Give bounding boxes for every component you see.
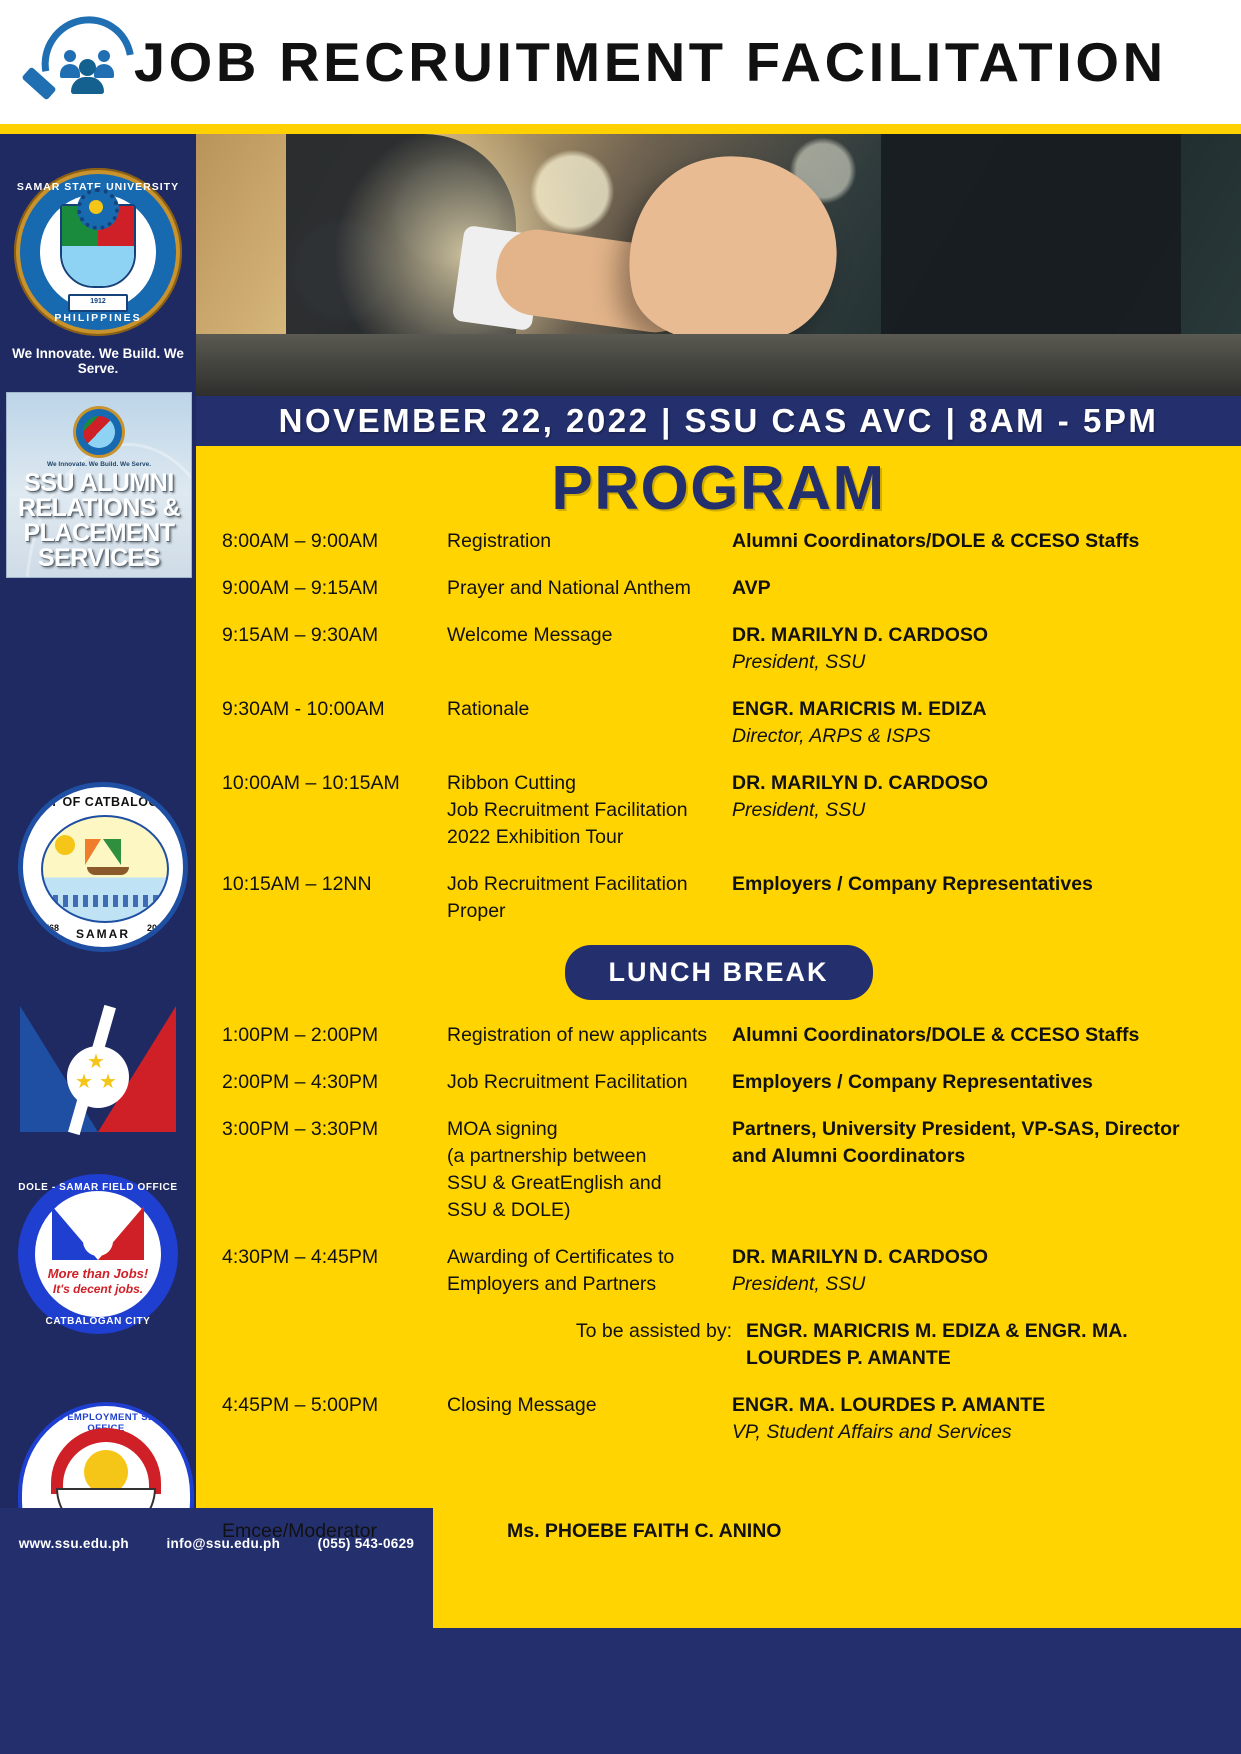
hero-handshake-image — [196, 134, 1241, 396]
program-row-time: 3:00PM – 3:30PM — [222, 1116, 447, 1224]
dole-samar-field-office-seal: DOLE - SAMAR FIELD OFFICE More than Jobs… — [18, 1174, 178, 1334]
program-row-activity: Job Recruitment Facilitation — [447, 1069, 732, 1096]
program-row-time: 4:45PM – 5:00PM — [222, 1392, 447, 1446]
emcee-label: Emcee/Moderator — [222, 1518, 507, 1545]
program-row-person: Alumni Coordinators/DOLE & CCESO Staffs — [732, 1022, 1219, 1049]
dole-seal-bottom-text: CATBALOGAN CITY — [18, 1316, 178, 1327]
dole-motto-line-2: It's decent jobs. — [18, 1282, 178, 1296]
program-row-activity: MOA signing(a partnership betweenSSU & G… — [447, 1116, 732, 1224]
program-row: 1:00PM – 2:00PMRegistration of new appli… — [222, 1022, 1219, 1049]
program-row-activity: Awarding of Certificates to Employers an… — [447, 1244, 732, 1298]
program-row: 8:00AM – 9:00AMRegistrationAlumni Coordi… — [222, 528, 1219, 555]
dole-seal-top-text: DOLE - SAMAR FIELD OFFICE — [18, 1182, 178, 1193]
poster-header: JOB RECRUITMENT FACILITATION — [0, 0, 1241, 124]
program-row: To be assisted by:ENGR. MARICRIS M. EDIZ… — [222, 1318, 1219, 1372]
program-row-time: 10:15AM – 12NN — [222, 871, 447, 925]
program-title: PROGRAM — [196, 454, 1241, 524]
poster-root: JOB RECRUITMENT FACILITATION SAMAR STATE… — [0, 0, 1241, 1754]
program-row-person: DR. MARILYN D. CARDOSOPresident, SSU — [732, 770, 1219, 851]
program-rows-afternoon: 1:00PM – 2:00PMRegistration of new appli… — [196, 1022, 1241, 1446]
program-row: 9:15AM – 9:30AMWelcome MessageDR. MARILY… — [222, 622, 1219, 676]
program-row-person: ENGR. MA. LOURDES P. AMANTEVP, Student A… — [732, 1392, 1219, 1446]
program-row: 3:00PM – 3:30PMMOA signing(a partnership… — [222, 1116, 1219, 1224]
program-row-time: 9:30AM - 10:00AM — [222, 696, 447, 750]
event-date-text: NOVEMBER 22, 2022 | SSU CAS AVC | 8AM - … — [279, 402, 1159, 440]
arps-line-3: PLACEMENT — [7, 521, 191, 546]
program-row: 10:00AM – 10:15AMRibbon CuttingJob Recru… — [222, 770, 1219, 851]
program-row-person: DR. MARILYN D. CARDOSOPresident, SSU — [732, 1244, 1219, 1298]
program-row-person: ENGR. MARICRIS M. EDIZA & ENGR. MA. LOUR… — [746, 1318, 1219, 1372]
program-row-time: 10:00AM – 10:15AM — [222, 770, 447, 851]
program-row-person: Employers / Company Representatives — [732, 1069, 1219, 1096]
header-accent-strip — [0, 124, 1241, 134]
arps-micro-motto: We Innovate. We Build. We Serve. — [7, 461, 191, 468]
arps-logo-card: We Innovate. We Build. We Serve. SSU ALU… — [6, 392, 192, 578]
program-row-person: Alumni Coordinators/DOLE & CCESO Staffs — [732, 528, 1219, 555]
page-title: JOB RECRUITMENT FACILITATION — [134, 30, 1167, 94]
emcee-name: Ms. PHOEBE FAITH C. ANINO — [507, 1518, 1241, 1545]
program-row-time — [222, 1318, 447, 1372]
program-row: 4:30PM – 4:45PMAwarding of Certificates … — [222, 1244, 1219, 1298]
program-row-activity: Ribbon CuttingJob Recruitment Facilitati… — [447, 770, 732, 851]
arps-line-4: SERVICES — [7, 546, 191, 571]
program-row-activity: Closing Message — [447, 1392, 732, 1446]
program-row-activity: Rationale — [447, 696, 732, 750]
ssu-seal-logo: SAMAR STATE UNIVERSITY 1912 PHILIPPINES — [14, 168, 182, 336]
program-row-time: 9:15AM – 9:30AM — [222, 622, 447, 676]
program-row-activity: Registration of new applicants — [447, 1022, 732, 1049]
program-rows-morning: 8:00AM – 9:00AMRegistrationAlumni Coordi… — [196, 528, 1241, 925]
dole-triangle-icon: ★ ★ ★ — [20, 1006, 176, 1134]
magnifier-people-icon — [16, 10, 128, 114]
lunch-break-badge: LUNCH BREAK — [565, 945, 873, 1000]
arps-line-2: RELATIONS & — [7, 496, 191, 521]
program-row-time: 2:00PM – 4:30PM — [222, 1069, 447, 1096]
ssu-motto: We Innovate. We Build. We Serve. — [0, 346, 196, 376]
ssu-seal-bottom-text: PHILIPPINES — [14, 312, 182, 324]
program-row-person: Partners, University President, VP-SAS, … — [732, 1116, 1219, 1224]
program-row-activity: To be assisted by: — [447, 1318, 746, 1372]
program-row-activity: Welcome Message — [447, 622, 732, 676]
program-row: 9:30AM - 10:00AMRationaleENGR. MARICRIS … — [222, 696, 1219, 750]
catbalogan-top-text: CITY OF CATBALOGAN — [23, 795, 183, 809]
program-row-time: 4:30PM – 4:45PM — [222, 1244, 447, 1298]
program-row-time: 8:00AM – 9:00AM — [222, 528, 447, 555]
program-row-person: DR. MARILYN D. CARDOSOPresident, SSU — [732, 622, 1219, 676]
catbalogan-bottom-text: SAMAR — [23, 927, 183, 941]
arps-mini-seal-icon — [73, 406, 125, 458]
program-row: 2:00PM – 4:30PMJob Recruitment Facilitat… — [222, 1069, 1219, 1096]
footer-website[interactable]: www.ssu.edu.ph — [19, 1536, 129, 1551]
program-row-activity: Prayer and National Anthem — [447, 575, 732, 602]
program-row-activity: Registration — [447, 528, 732, 555]
catbalogan-city-seal: CITY OF CATBALOGAN 1768 2007 SAMAR — [18, 782, 178, 942]
program-row: 9:00AM – 9:15AMPrayer and National Anthe… — [222, 575, 1219, 602]
program-row: 4:45PM – 5:00PMClosing MessageENGR. MA. … — [222, 1392, 1219, 1446]
program-row: 10:15AM – 12NNJob Recruitment Facilitati… — [222, 871, 1219, 925]
program-row-activity: Job Recruitment Facilitation Proper — [447, 871, 732, 925]
arps-line-1: SSU ALUMNI — [7, 471, 191, 496]
program-row-person: ENGR. MARICRIS M. EDIZADirector, ARPS & … — [732, 696, 1219, 750]
program-row-person: Employers / Company Representatives — [732, 871, 1219, 925]
program-row-time: 9:00AM – 9:15AM — [222, 575, 447, 602]
program-row-person: AVP — [732, 575, 1219, 602]
emcee-row: Emcee/Moderator Ms. PHOEBE FAITH C. ANIN… — [222, 1518, 1241, 1545]
program-row-time: 1:00PM – 2:00PM — [222, 1022, 447, 1049]
event-date-bar: NOVEMBER 22, 2022 | SSU CAS AVC | 8AM - … — [196, 396, 1241, 446]
ssu-seal-year: 1912 — [68, 294, 128, 312]
program-panel: PROGRAM 8:00AM – 9:00AMRegistrationAlumn… — [196, 446, 1241, 1508]
dole-motto-line-1: More than Jobs! — [18, 1266, 178, 1281]
